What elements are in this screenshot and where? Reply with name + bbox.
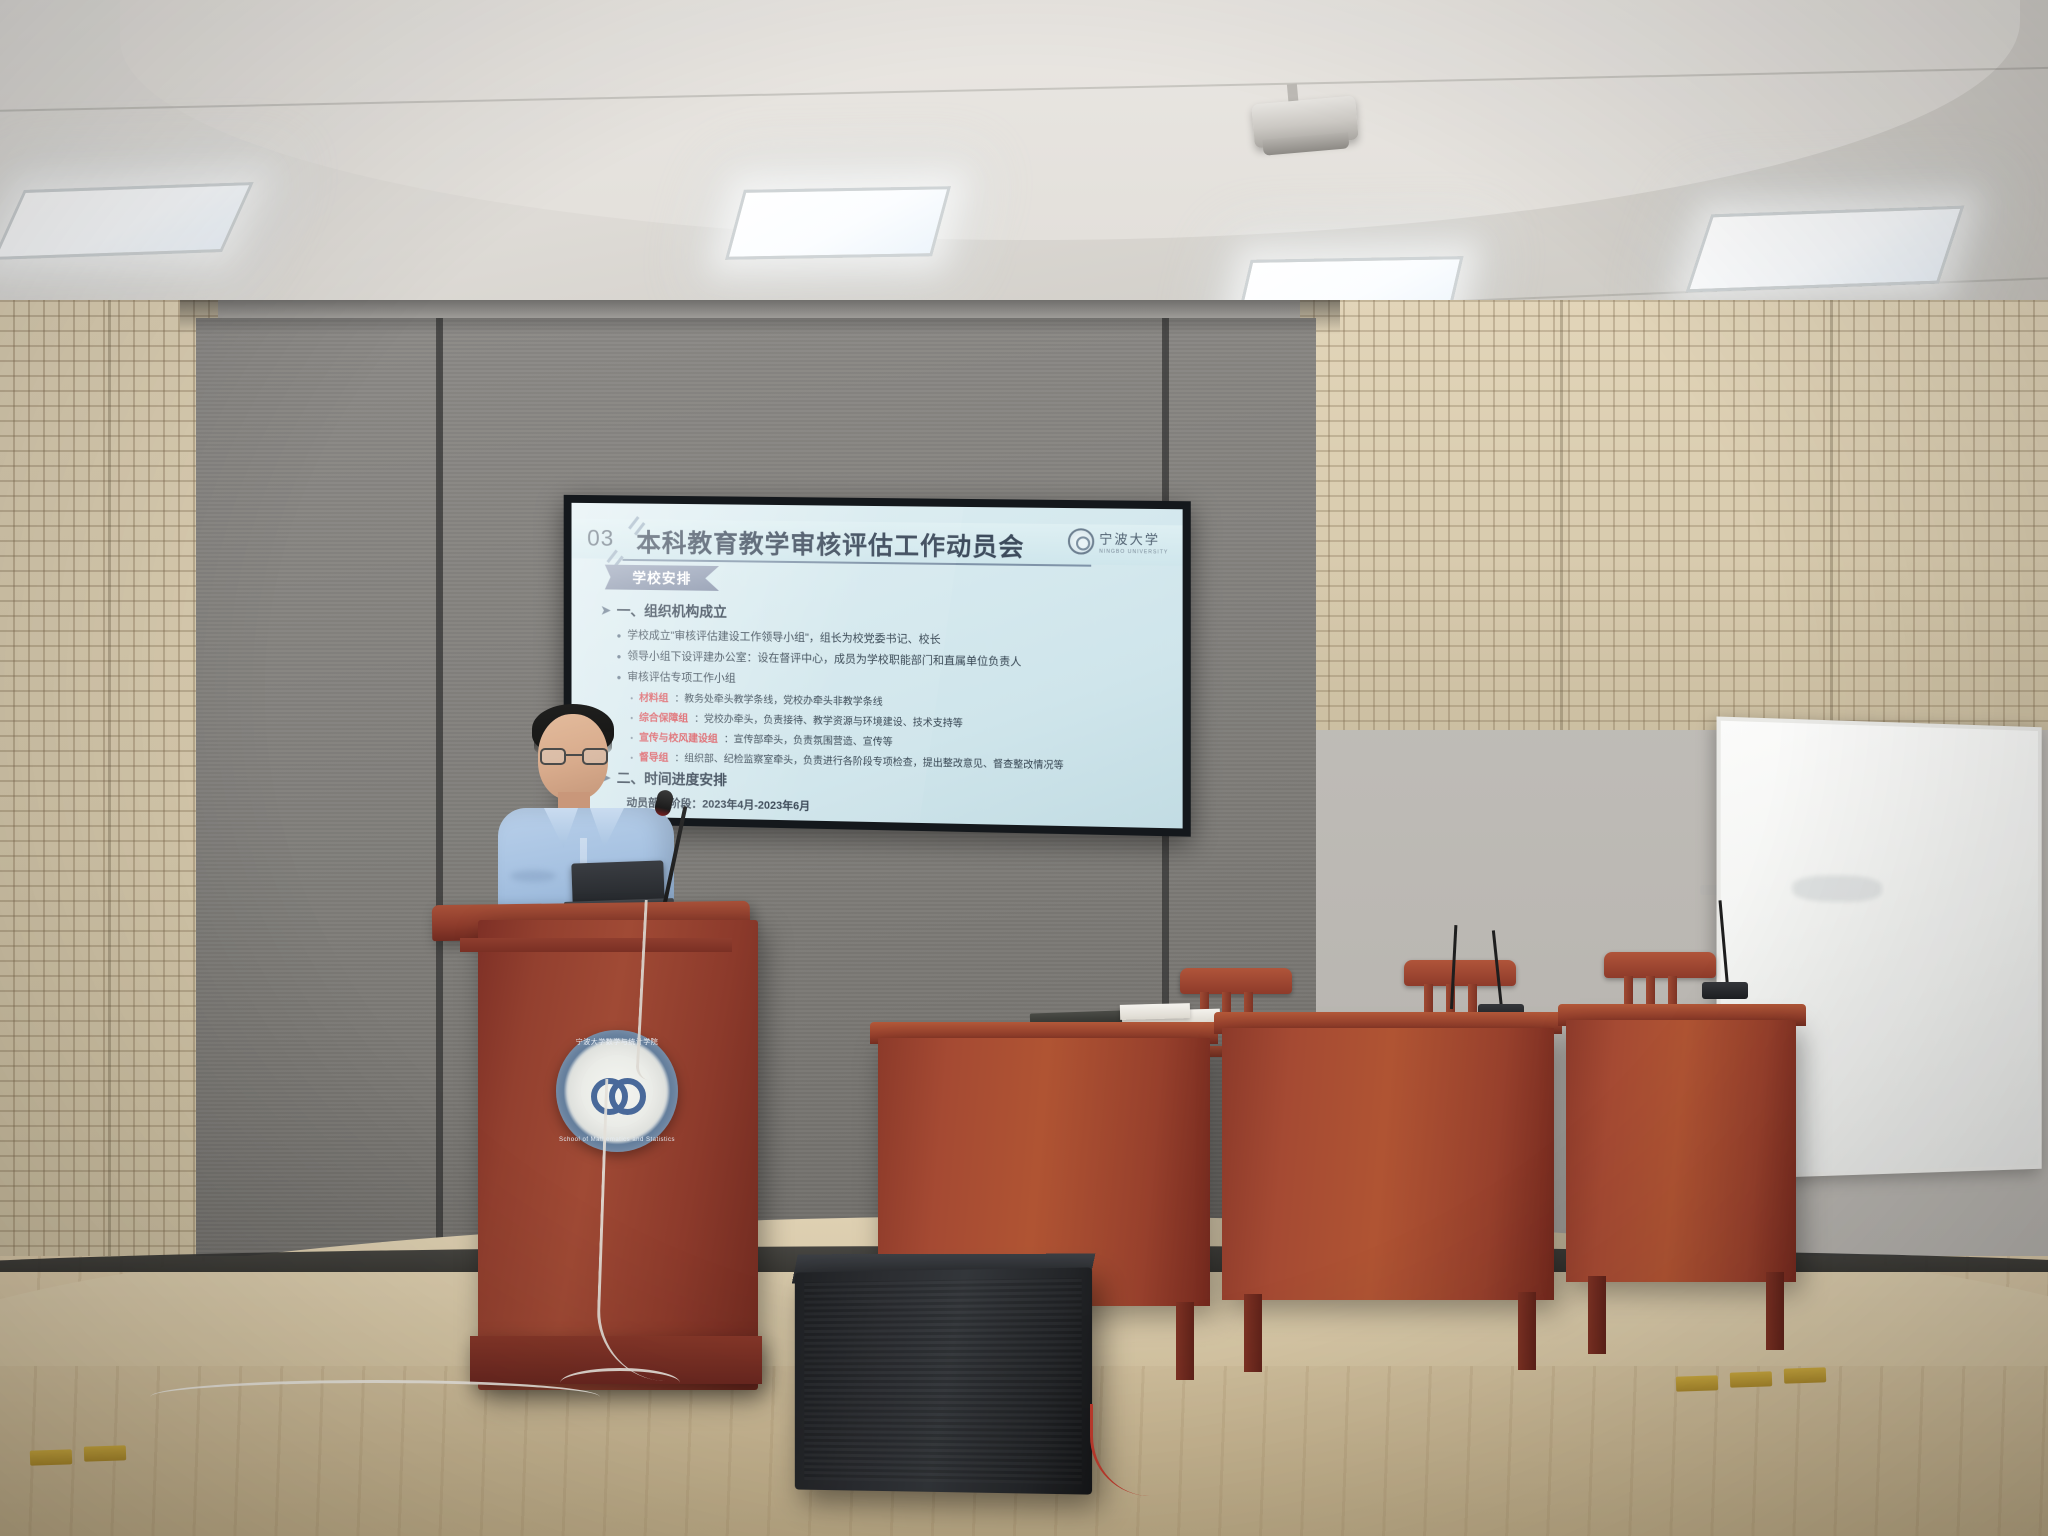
floor-tape-marker [1730, 1371, 1772, 1387]
glasses-bridge [566, 754, 582, 756]
stage-monitor-speaker [795, 1267, 1092, 1494]
table-leg [1518, 1292, 1536, 1370]
ceiling-light-panel [0, 182, 254, 260]
floor-tape-marker [1676, 1375, 1718, 1391]
floor-tape-marker [1784, 1367, 1826, 1383]
dot-bullet-icon: ● [617, 673, 622, 682]
conference-table [1222, 1028, 1554, 1300]
panel-divider [1830, 300, 1833, 730]
university-logo: 宁波大学 NINGBO UNIVERSITY [1068, 528, 1169, 555]
table-leg [1588, 1276, 1606, 1354]
university-logo-en: NINGBO UNIVERSITY [1099, 549, 1168, 556]
slide-bullet-text: 审核评估专项工作小组 [627, 668, 735, 686]
panel-divider [1560, 300, 1563, 730]
slide-bullet-text: 学校成立"审核评估建设工作领导小组"，组长为校党委书记、校长 [627, 626, 940, 647]
whiteboard-smudge [1792, 875, 1882, 902]
table-leg [1176, 1302, 1194, 1380]
papers-on-table [1120, 1003, 1190, 1020]
fabric-wall-seam [436, 318, 443, 1270]
floor-tape-marker [84, 1445, 126, 1461]
glasses-icon [540, 748, 608, 765]
ceiling-curved-soffit [120, 0, 2020, 240]
slide-section-number: 03 [587, 525, 614, 552]
stage-monitor-grille [804, 1278, 1081, 1484]
group-desc: ：宣传部牵头，负责氛围营造、宣传等 [724, 730, 893, 748]
group-desc: ：党校办牵头，负责接待、教学资源与环境建设、技术支持等 [694, 710, 963, 730]
glasses-lens-left [540, 748, 566, 765]
floor-cable [150, 1380, 600, 1414]
group-desc: ：组织部、纪检监察室牵头，负责进行各阶段专项检查，提出整改意见、督查整改情况等 [674, 749, 1063, 771]
chair-backrest [1604, 952, 1716, 978]
cable [595, 1079, 675, 1381]
dot-bullet-icon: ● [617, 652, 622, 661]
shirt-fold [510, 870, 556, 882]
slide-bullet-text: 领导小组下设评建办公室：设在督评中心，成员为学校职能部门和直属单位负责人 [627, 647, 1021, 669]
group-desc: ：教务处牵头教学条线，党校办牵头非教学条线 [674, 690, 882, 708]
acoustic-panel-wall-right [1300, 300, 2048, 730]
dot-bullet-icon: ● [617, 631, 622, 640]
lecture-hall-scene: 03 本科教育教学审核评估工作动员会 宁波大学 NINGBO UNIVERSIT… [0, 0, 2048, 1536]
timeline-value: 2023年4月-2023年6月 [702, 799, 810, 813]
slide-bullet: ● 学校成立"审核评估建设工作领导小组"，组长为校党委书记、校长 [617, 626, 1173, 650]
slide-section-tag: 学校安排 [605, 565, 719, 591]
podium-lip [460, 938, 732, 952]
ceiling-projector [1251, 96, 1358, 149]
glasses-lens-right [582, 748, 608, 765]
arrow-bullet-icon: ➤ [601, 603, 611, 617]
floor-tape-marker [30, 1449, 72, 1465]
ceiling-light-panel [725, 186, 951, 260]
slide-heading-1: ➤ 一、组织机构成立 [601, 600, 1173, 628]
wall-top-shadow [180, 300, 1340, 334]
conference-table [1566, 1020, 1796, 1282]
slide-heading-1-text: 一、组织机构成立 [617, 600, 727, 621]
floor-cable [560, 1368, 680, 1398]
university-logo-cn: 宁波大学 [1099, 532, 1160, 548]
university-logo-icon [1068, 528, 1094, 554]
desk-microphone-base [1702, 982, 1748, 999]
panel-divider [108, 300, 111, 1280]
slide-title: 本科教育教学审核评估工作动员会 [636, 523, 1024, 564]
slide-bullet: ● 领导小组下设评建办公室：设在督评中心，成员为学校职能部门和直属单位负责人 [617, 647, 1173, 672]
podium-emblem-cn: 宁波大学数学与统计学院 [556, 1037, 678, 1047]
table-leg [1766, 1272, 1784, 1350]
slide-body: ➤ 一、组织机构成立 ● 学校成立"审核评估建设工作领导小组"，组长为校党委书记… [601, 600, 1173, 828]
ceiling-light-panel [1686, 206, 1965, 293]
chair-backrest [1180, 968, 1292, 994]
table-leg [1244, 1294, 1262, 1372]
